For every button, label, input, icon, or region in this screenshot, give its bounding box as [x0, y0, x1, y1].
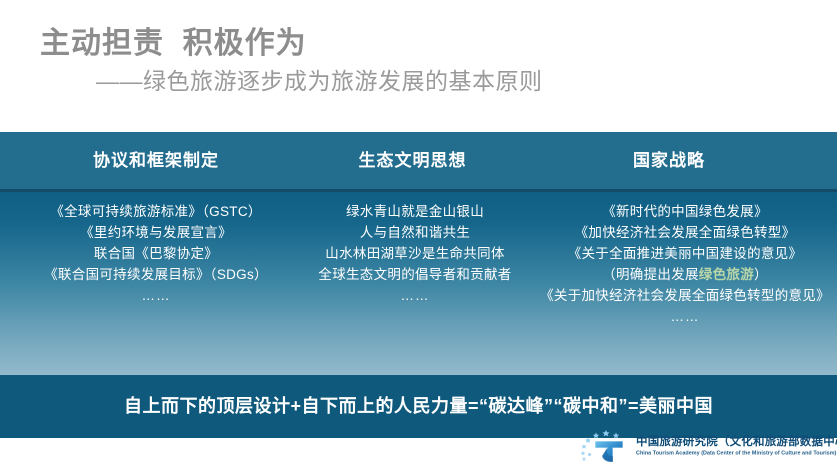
ellipsis: ……: [535, 306, 835, 327]
table-cell-agreements: 《全球可持续旅游标准》（GSTC） 《里约环境与发展宣言》 联合国《巴黎协定》 …: [6, 192, 306, 306]
column-header-eco-civilization: 生态文明思想: [300, 132, 525, 189]
logo-t-mark-icon: [578, 426, 634, 466]
list-item: 全球生态文明的倡导者和贡献者: [300, 264, 530, 285]
logo-name-en: China Tourism Academy (Data Center of th…: [636, 449, 837, 457]
column-header-national-strategy: 国家战略: [540, 132, 798, 189]
organization-logo: 中国旅游研究院（文化和旅游部数据中心） China Tourism Academ…: [578, 426, 833, 466]
list-item: 《里约环境与发展宣言》: [6, 222, 306, 243]
page-subtitle: ——绿色旅游逐步成为旅游发展的基本原则: [0, 64, 837, 98]
table-cell-national-strategy: 《新时代的中国绿色发展》 《加快经济社会发展全面绿色转型》 《关于全面推进美丽中…: [535, 192, 835, 327]
list-item: 《联合国可持续发展目标》（SDGs）: [6, 264, 306, 285]
page-title: 主动担责 积极作为: [0, 24, 837, 64]
list-item: 《加快经济社会发展全面绿色转型》: [535, 222, 835, 243]
ellipsis: ……: [300, 285, 530, 306]
table-cell-eco-civilization: 绿水青山就是金山银山 人与自然和谐共生 山水林田湖草沙是生命共同体 全球生态文明…: [300, 192, 530, 306]
logo-text-block: 中国旅游研究院（文化和旅游部数据中心） China Tourism Academ…: [636, 435, 837, 457]
list-item: 人与自然和谐共生: [300, 222, 530, 243]
list-item: 山水林田湖草沙是生命共同体: [300, 243, 530, 264]
column-header-agreements: 协议和框架制定: [16, 132, 296, 189]
list-item: 联合国《巴黎协定》: [6, 243, 306, 264]
logo-name-cn: 中国旅游研究院（文化和旅游部数据中心）: [636, 435, 837, 449]
list-item: 《关于加快经济社会发展全面绿色转型的意见》: [535, 285, 835, 306]
list-item: 《新时代的中国绿色发展》: [535, 201, 835, 222]
table-header-row: 协议和框架制定 生态文明思想 国家战略: [0, 132, 837, 192]
highlight-prefix: （明确提出发展: [602, 267, 699, 282]
title-block: 主动担责 积极作为 ——绿色旅游逐步成为旅游发展的基本原则: [0, 24, 837, 98]
list-item: 《全球可持续旅游标准》（GSTC）: [6, 201, 306, 222]
table-body: 《全球可持续旅游标准》（GSTC） 《里约环境与发展宣言》 联合国《巴黎协定》 …: [0, 192, 837, 375]
policy-table: 协议和框架制定 生态文明思想 国家战略 《全球可持续旅游标准》（GSTC） 《里…: [0, 132, 837, 375]
slide-canvas: 主动担责 积极作为 ——绿色旅游逐步成为旅游发展的基本原则 协议和框架制定 生态…: [0, 0, 837, 468]
ellipsis: ……: [6, 285, 306, 306]
highlight-suffix: ）: [754, 267, 768, 282]
list-item: 绿水青山就是金山银山: [300, 201, 530, 222]
list-item-highlighted: （明确提出发展绿色旅游）: [535, 264, 835, 285]
highlight-green-tourism: 绿色旅游: [699, 267, 754, 282]
list-item: 《关于全面推进美丽中国建设的意见》: [535, 243, 835, 264]
